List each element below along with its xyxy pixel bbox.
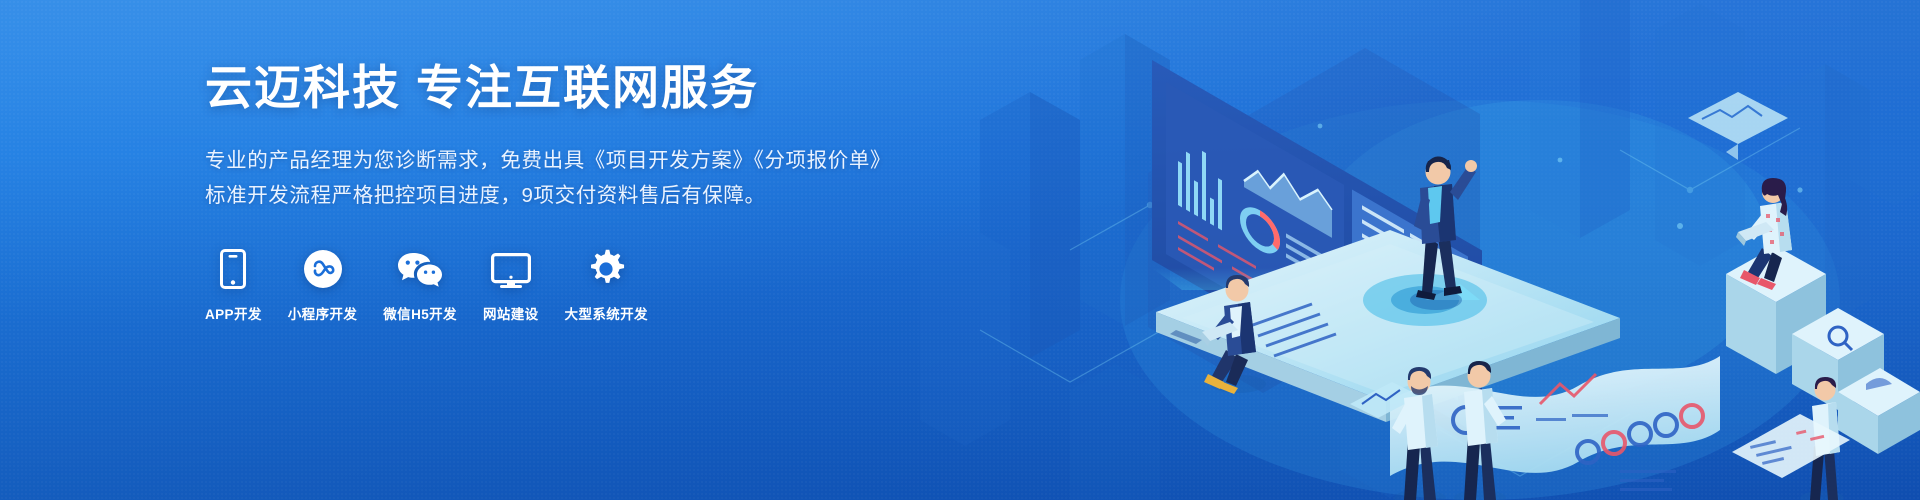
- gear-icon: [586, 247, 626, 289]
- service-item-system[interactable]: 大型系统开发: [565, 247, 648, 323]
- mobile-phone-icon: [220, 247, 246, 289]
- mini-program-icon: [303, 247, 343, 289]
- monitor-icon: [491, 247, 531, 289]
- service-item-wechat[interactable]: 微信H5开发: [383, 247, 457, 323]
- service-label: 微信H5开发: [383, 303, 457, 323]
- hero-banner: 云迈科技 专注互联网服务 专业的产品经理为您诊断需求，免费出具《项目开发方案》《…: [0, 0, 1920, 500]
- service-item-app[interactable]: APP开发: [205, 247, 262, 323]
- service-label: APP开发: [205, 303, 262, 323]
- service-label: 大型系统开发: [565, 303, 648, 323]
- service-item-miniprogram[interactable]: 小程序开发: [288, 247, 358, 323]
- banner-subtitle: 专业的产品经理为您诊断需求，免费出具《项目开发方案》《分项报价单》 标准开发流程…: [205, 143, 905, 214]
- banner-content: 云迈科技 专注互联网服务 专业的产品经理为您诊断需求，免费出具《项目开发方案》《…: [205, 62, 905, 323]
- service-item-website[interactable]: 网站建设: [483, 247, 539, 323]
- wechat-icon: [397, 247, 443, 289]
- isometric-data-analytics-illustration: [920, 0, 1920, 500]
- subtitle-line-1: 专业的产品经理为您诊断需求，免费出具《项目开发方案》《分项报价单》: [205, 143, 905, 178]
- service-list: APP开发 小程序开发: [205, 247, 905, 323]
- service-label: 网站建设: [483, 303, 539, 323]
- page-title: 云迈科技 专注互联网服务: [205, 62, 905, 115]
- subtitle-line-2: 标准开发流程严格把控项目进度，9项交付资料售后有保障。: [205, 178, 905, 213]
- service-label: 小程序开发: [288, 303, 358, 323]
